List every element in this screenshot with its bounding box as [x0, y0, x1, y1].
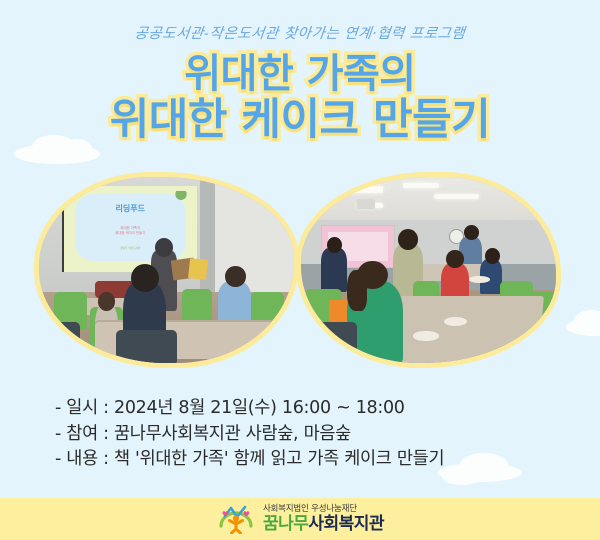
- ceiling-light: [403, 183, 439, 189]
- photo-left-content: 리딩푸드 위대한 가족의위대한 케이크 만들기 꿈나무 작은도서관: [39, 177, 294, 363]
- photo-cake-decorating-activity: [296, 172, 561, 368]
- logo-text-block: 사회복지법인 우성나눔재단 꿈나무사회복지관: [263, 505, 384, 533]
- ceiling-light: [434, 194, 480, 200]
- slide-footer: 꿈나무 작은도서관: [64, 246, 197, 250]
- palm-illustration: [175, 191, 187, 206]
- plate: [469, 276, 489, 283]
- info-line-content: - 내용 : 책 '위대한 가족' 함께 읽고 가족 케이크 만들기: [55, 447, 555, 473]
- organization-logo: 사회복지법인 우성나눔재단 꿈나무사회복지관: [0, 498, 600, 540]
- photo-classroom-reading-session: 리딩푸드 위대한 가족의위대한 케이크 만들기 꿈나무 작은도서관: [34, 172, 299, 368]
- center-name-part2: 사회복지관: [308, 514, 384, 534]
- adult-back-left: [321, 248, 347, 293]
- adult-center-head: [398, 229, 418, 249]
- chair: [182, 289, 213, 322]
- photo-right-content: [301, 177, 556, 363]
- photo-gallery: 리딩푸드 위대한 가족의위대한 케이크 만들기 꿈나무 작은도서관: [0, 172, 600, 372]
- cloud-icon-left: [14, 144, 100, 164]
- title-line-2: 위대한 케이크 만들기: [0, 96, 600, 144]
- plate: [444, 317, 467, 326]
- presenter-head: [155, 238, 173, 257]
- plate: [413, 331, 439, 340]
- slide-subtitle: 위대한 가족의위대한 케이크 만들기: [64, 226, 197, 236]
- poster-subtitle: 공공도서관-작은도서관 찾아가는 연계·협력 프로그램: [0, 22, 600, 43]
- chair: [311, 322, 357, 363]
- center-name-part1: 꿈나무: [263, 514, 308, 534]
- foundation-name: 사회복지법인 우성나눔재단: [263, 505, 357, 514]
- ceiling-light: [342, 186, 383, 193]
- center-name: 꿈나무사회복지관: [263, 516, 384, 533]
- chair: [116, 330, 177, 363]
- adult-back-left-head: [327, 237, 342, 254]
- child-red-shirt-head: [446, 250, 464, 269]
- held-book-2: [188, 258, 208, 280]
- foreground-person-head: [131, 264, 159, 292]
- footer-band: 사회복지법인 우성나눔재단 꿈나무사회복지관: [0, 498, 600, 540]
- info-line-participants: - 참여 : 꿈나무사회복지관 사람숲, 마음숲: [55, 422, 555, 448]
- projector: [357, 199, 375, 208]
- poster-root: 공공도서관-작은도서관 찾아가는 연계·협력 프로그램 위대한 가족의 위대한 …: [0, 0, 600, 540]
- poster-title: 위대한 가족의 위대한 케이크 만들기: [0, 52, 600, 144]
- participant-blue: [218, 281, 251, 326]
- title-line-1: 위대한 가족의: [0, 52, 600, 96]
- info-line-date: - 일시 : 2024년 8월 21일(수) 16:00 ~ 18:00: [55, 396, 555, 422]
- dreamtree-logo-icon: [216, 504, 256, 534]
- participant-blue-head: [225, 266, 245, 286]
- wall-right: [207, 177, 294, 292]
- info-list: - 일시 : 2024년 8월 21일(수) 16:00 ~ 18:00 - 참…: [55, 396, 555, 473]
- chair: [44, 322, 80, 359]
- child-green-shirt-hair: [347, 270, 367, 311]
- child-navy-shirt-head: [485, 248, 500, 265]
